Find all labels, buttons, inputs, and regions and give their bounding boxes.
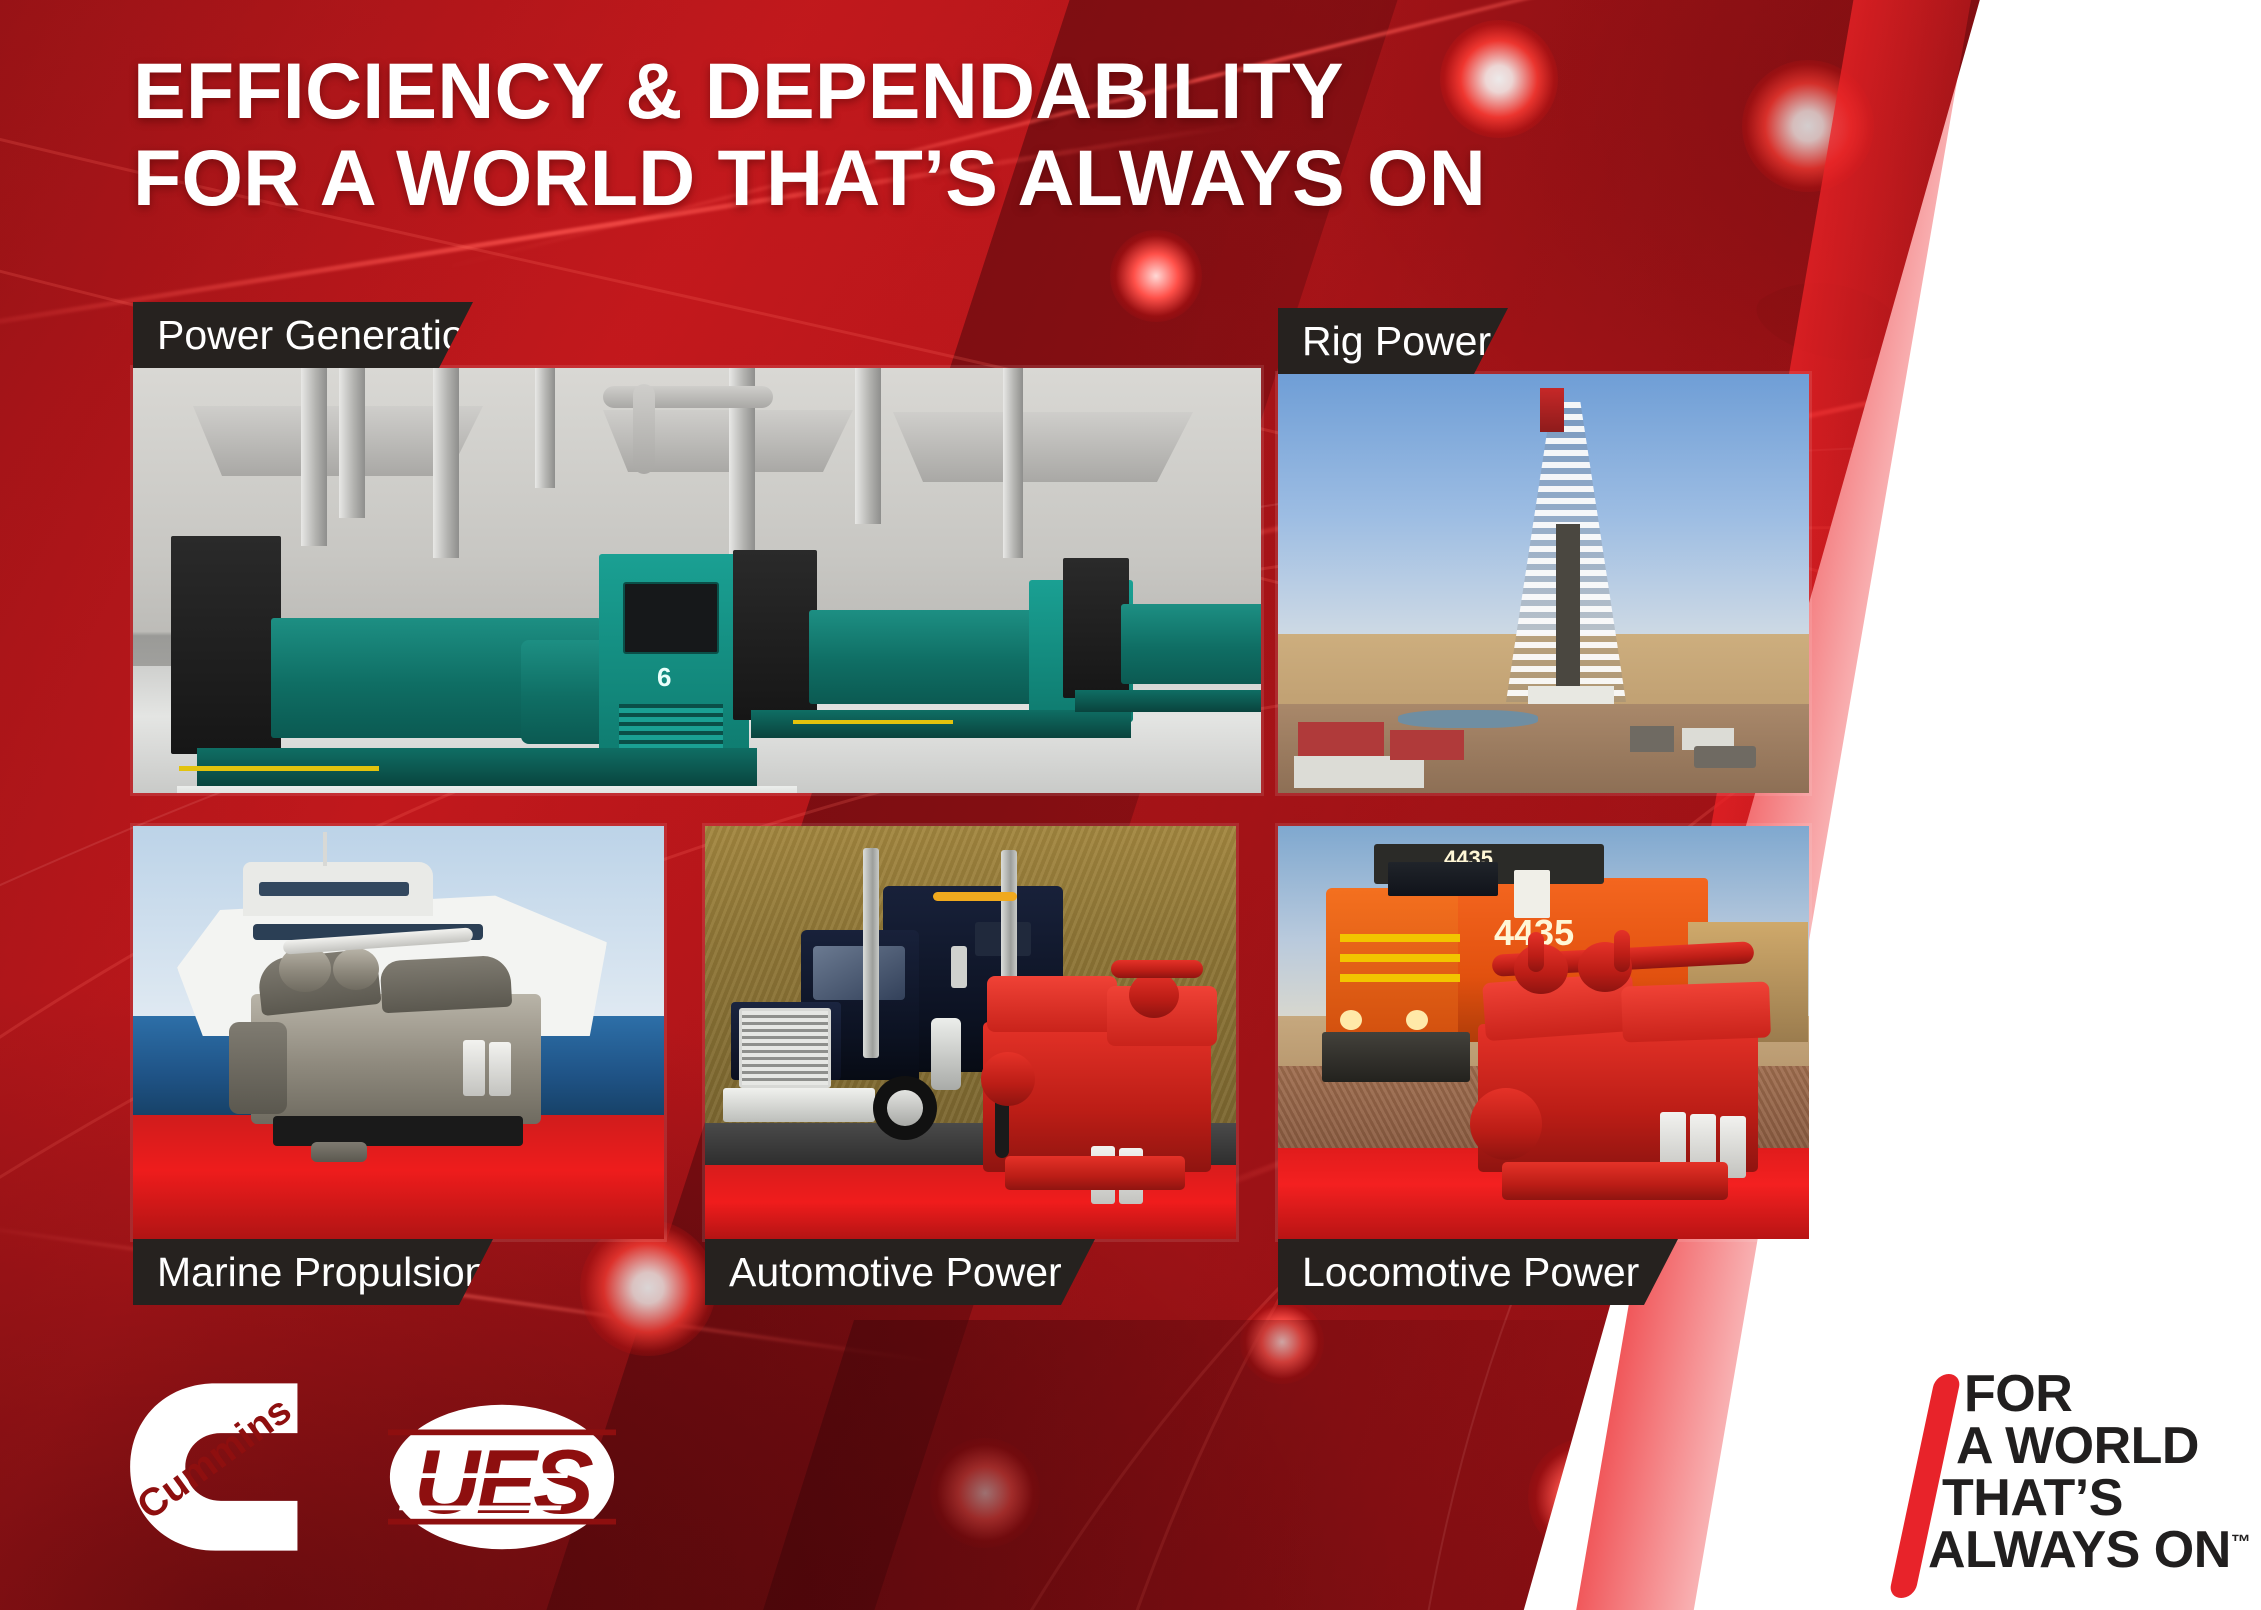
panel-rig-power[interactable]: Rig Power [1278,374,1809,793]
locomotive-headlight-left [1340,1010,1362,1030]
locomotive-engine-riser-2 [1614,930,1630,972]
truck-bumper [723,1088,875,1122]
marine-engine-vee-right [380,955,513,1014]
tagline-text: FOR A WORLD THAT’S ALWAYS ON™ [1964,1368,2250,1576]
panel-label-automotive-power[interactable]: Automotive Power [705,1239,1095,1305]
cummins-registered-mark: ® [276,1526,293,1552]
genset-skid-base [1075,690,1261,712]
rig-pit-water [1398,710,1538,728]
exhaust-stack-1 [301,368,327,546]
tagline-line-1: FOR [1964,1368,2250,1420]
exhaust-stack-4 [535,368,555,488]
truck-windshield [813,946,905,1000]
locomotive-stripe-2 [1340,954,1460,962]
panel-label-power-generation[interactable]: Power Generation [133,302,473,368]
locomotive-stripe-3 [1340,974,1460,982]
marine-engine-filter-1 [463,1040,485,1096]
derrick-platform [1528,686,1614,704]
panel-label-rig-power[interactable]: Rig Power [1278,308,1508,374]
marine-engine-mount [311,1142,367,1162]
genset-concrete-pad [177,786,797,793]
exhaust-stack-2 [339,368,365,518]
marine-engine-turbo-2 [333,948,379,990]
panel-automotive-power[interactable]: Automotive Power [705,826,1236,1239]
rig-equipment-2 [1294,756,1424,788]
yacht-windows-upper [259,882,409,896]
locomotive-side-window [1514,870,1550,918]
locomotive-engine-riser-1 [1528,932,1544,972]
marine-propulsion-photo [133,826,664,1239]
panel-marine-propulsion[interactable]: Marine Propulsion [133,826,664,1239]
cummins-logo[interactable]: Cummins ® [123,1378,301,1556]
rig-equipment-3 [1390,730,1464,760]
locomotive-engine-flywheel [1470,1088,1542,1160]
truck-fuel-tank [931,1018,961,1090]
floor-marking-1 [179,766,379,771]
panel-label-locomotive-power[interactable]: Locomotive Power [1278,1239,1678,1305]
truck-engine-sump [1005,1156,1185,1190]
genset-unit-front: 6 [171,536,831,793]
rig-equipment-1 [1298,722,1384,756]
panel-power-generation[interactable]: 6 Power Generation [133,368,1261,793]
truck-engine-valve-cover [987,976,1117,1032]
genset-engine-block [1121,604,1261,684]
truck-exhaust-stack-left [863,848,879,1058]
locomotive-windshield [1388,862,1498,896]
brand-tagline: FOR A WORLD THAT’S ALWAYS ON™ [1912,1368,2250,1598]
ues-wordmark: UES [414,1431,593,1533]
genset-number-label: 6 [657,662,671,693]
tagline-line-4-text: ALWAYS ON [1928,1521,2231,1579]
tagline-line-3: THAT’S [1942,1472,2250,1524]
power-generation-photo: 6 [133,368,1261,793]
derrick-mast-core [1556,524,1580,704]
truck-marker-lights [933,892,1017,901]
locomotive-stripe-1 [1340,934,1460,942]
locomotive-pilot [1322,1032,1470,1082]
locomotive-engine-bank-right [1621,981,1771,1042]
panel-label-marine-propulsion[interactable]: Marine Propulsion [133,1239,493,1305]
tagline-line-4: ALWAYS ON™ [1928,1524,2250,1576]
locomotive-headlight-right [1406,1010,1428,1030]
headline-line-1: EFFICIENCY & DEPENDABILITY [133,48,1833,135]
genset-radiator [733,550,817,720]
genset-radiator [1063,558,1129,698]
floor-marking-2 [793,720,953,724]
rig-equipment-4 [1630,726,1674,752]
truck-grille [739,1008,831,1088]
truck-engine-pulley [981,1052,1035,1106]
tagline-trademark: ™ [2231,1532,2251,1554]
ceiling-duct-3 [893,412,1193,482]
rig-power-photo [1278,374,1809,793]
panel-label-text: Rig Power [1302,321,1491,362]
truck-engine-turbo [1129,972,1179,1018]
truck-engine-intake-pipe [1111,960,1203,978]
yacht-mast [323,832,327,866]
headline-line-2: FOR A WORLD THAT’S ALWAYS ON [133,135,1833,222]
genset-engine-block [809,610,1039,704]
elbow-pipe-1 [603,386,773,408]
exhaust-stack-7 [1003,368,1023,558]
exhaust-stack-6 [855,368,881,524]
panel-locomotive-power[interactable]: 4435 4435 [1278,826,1809,1239]
marine-engine-sump [273,1116,523,1146]
truck-front-wheel [873,1076,937,1140]
tagline-line-2: A WORLD [1956,1420,2250,1472]
panel-label-text: Power Generation [157,315,487,356]
truck-mirror [951,946,967,988]
rig-truck [1694,746,1756,768]
poster-canvas: EFFICIENCY & DEPENDABILITY FOR A WORLD T… [0,0,2261,1610]
panel-label-text: Locomotive Power [1302,1252,1639,1293]
page-title: EFFICIENCY & DEPENDABILITY FOR A WORLD T… [133,48,1833,222]
locomotive-power-photo: 4435 4435 [1278,826,1809,1239]
automotive-power-photo [705,826,1236,1239]
ues-logo[interactable]: UES [388,1400,616,1554]
panel-label-text: Automotive Power [729,1252,1062,1293]
marine-engine-flywheel [229,1022,287,1114]
exhaust-stack-3 [433,368,459,558]
panel-label-text: Marine Propulsion [157,1252,487,1293]
elbow-pipe-2 [633,384,655,474]
genset-unit-third [1063,558,1261,738]
locomotive-engine-sump [1502,1162,1728,1200]
genset-radiator [171,536,281,754]
marine-engine-filter-2 [489,1042,511,1096]
genset-control-panel [623,582,719,654]
derrick-crown [1540,388,1564,432]
